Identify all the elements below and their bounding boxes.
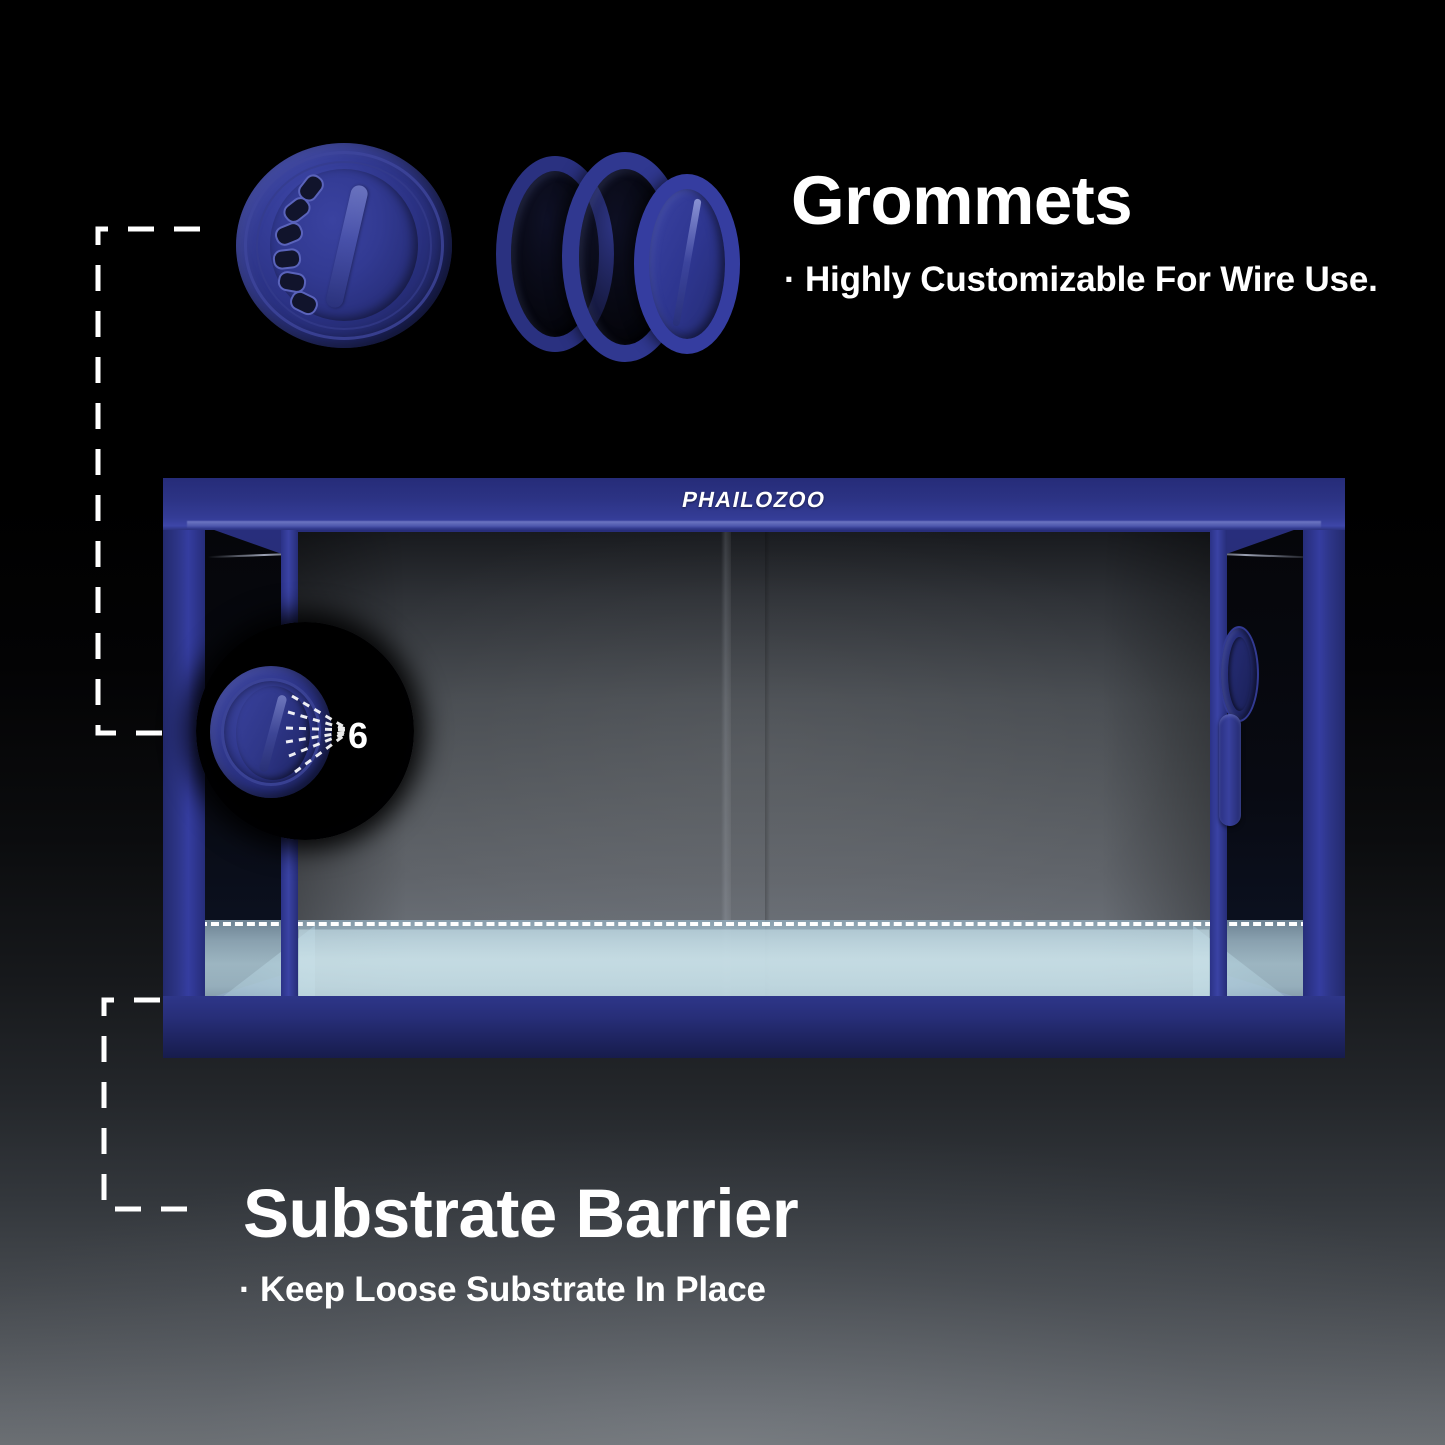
product-feature-graphic: Grommets · Highly Customizable For Wire …	[0, 0, 1445, 1445]
tank-post-right	[1303, 478, 1345, 1058]
tank-grommet-right	[1219, 626, 1259, 722]
grommet-slot-notches	[236, 143, 452, 348]
grommet-magnifier-callout: 6	[196, 622, 414, 840]
substrate-barrier-heading: Substrate Barrier	[243, 1179, 798, 1248]
grommet-slot-count-label: 6	[348, 718, 368, 754]
grommet-rings-render	[494, 152, 732, 342]
grommet-wire-slot-fan-lines	[196, 622, 414, 840]
grommets-bullet-text: · Highly Customizable For Wire Use.	[784, 262, 1378, 297]
tank-top-rail-highlight	[187, 521, 1321, 528]
tank-door-handle-right	[1219, 714, 1241, 826]
substrate-barrier-bullet-text: · Keep Loose Substrate In Place	[239, 1272, 766, 1307]
grommet-ring-ridge	[672, 198, 701, 326]
grommet-cap-body	[236, 143, 452, 348]
grommet-cap-render	[236, 143, 452, 348]
grommets-heading: Grommets	[791, 166, 1132, 235]
brand-logo: PHAILOZOO	[680, 487, 828, 513]
grommet-ring-front-capped	[634, 174, 740, 354]
tank-bottom-rail	[163, 996, 1345, 1058]
